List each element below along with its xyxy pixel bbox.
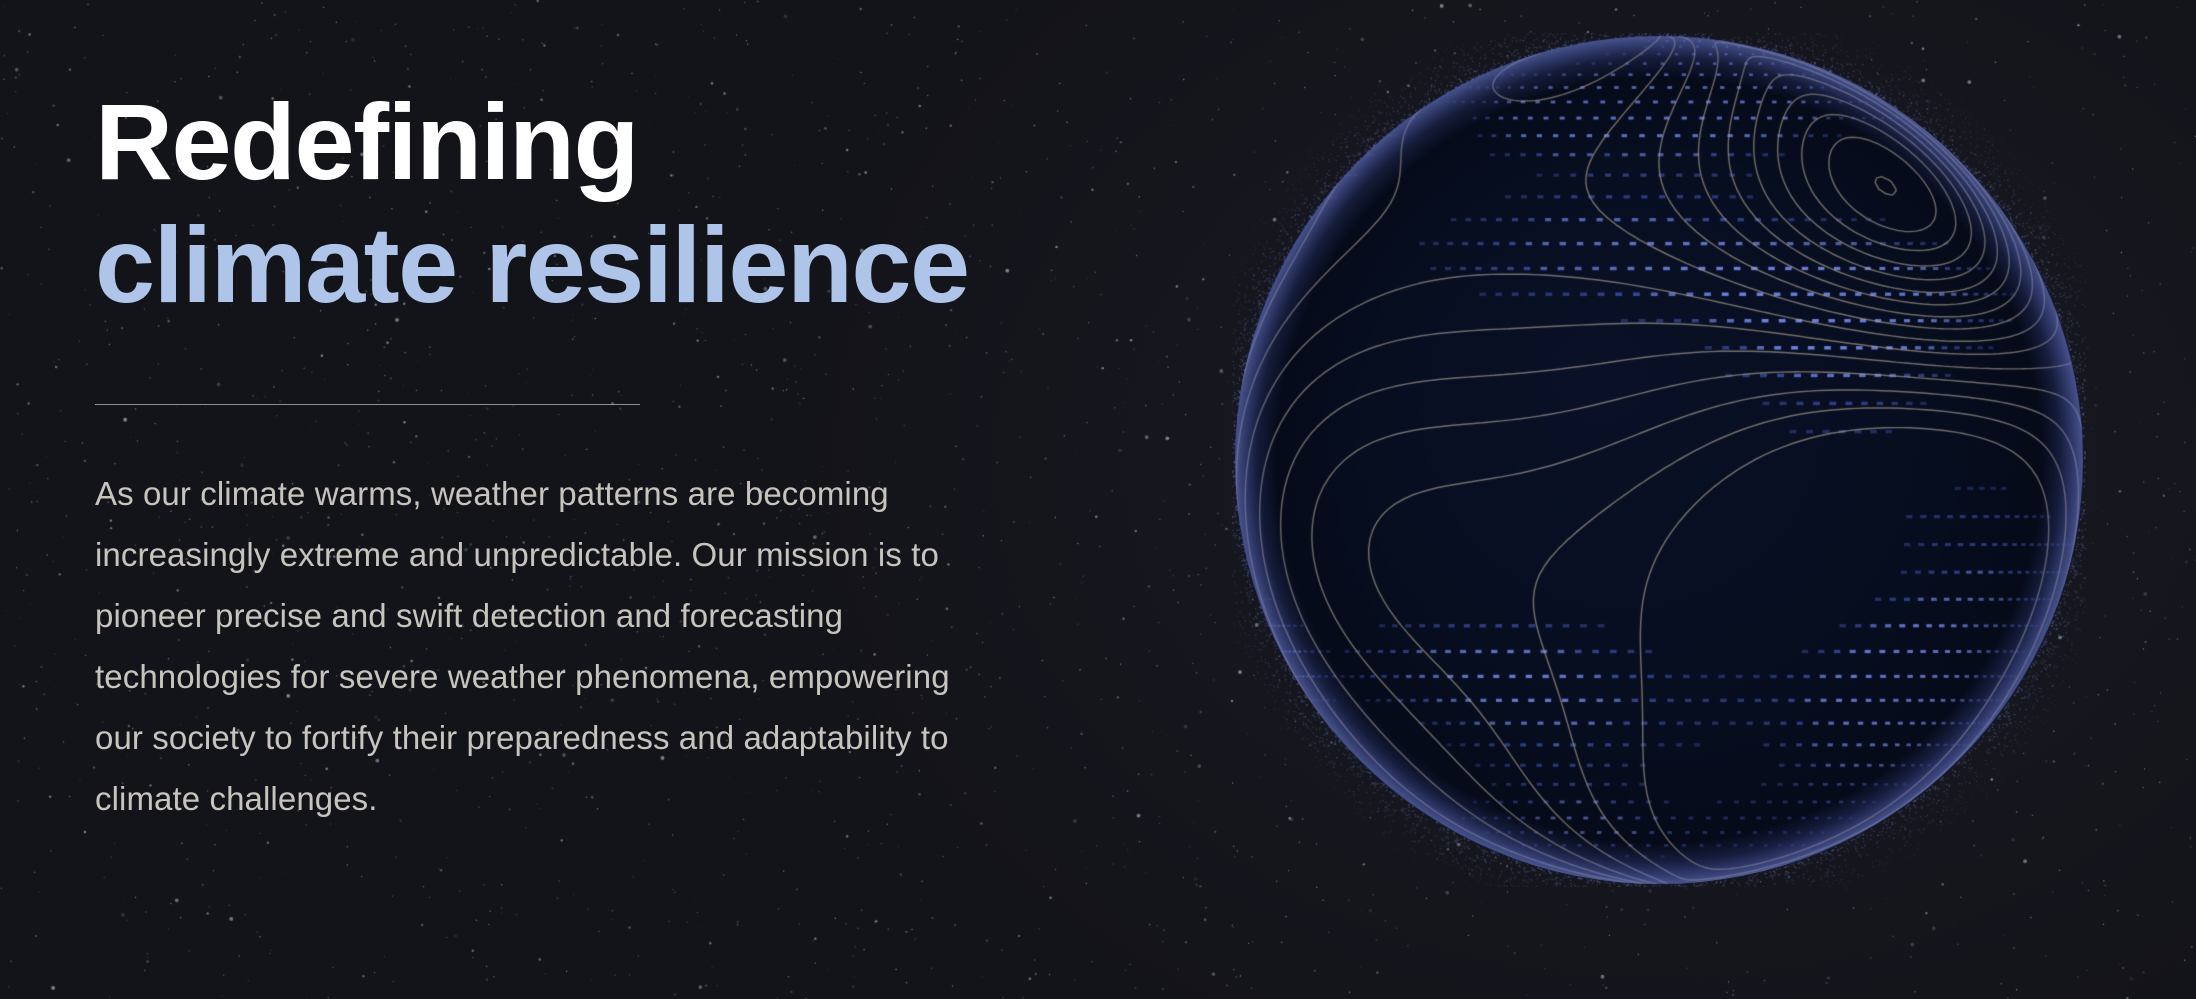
hero-copy-column: Redefining climate resilience As our cli… <box>95 80 1095 829</box>
headline-line-accent: climate resilience <box>95 203 1095 326</box>
page-title: Redefining climate resilience <box>95 80 1095 326</box>
hero-section: Redefining climate resilience As our cli… <box>0 0 2196 999</box>
globe-visualization <box>1232 33 2086 887</box>
horizontal-divider <box>95 404 640 405</box>
globe-canvas <box>1232 33 2086 887</box>
headline-line-primary: Redefining <box>95 80 1095 203</box>
hero-description-paragraph: As our climate warms, weather patterns a… <box>95 463 955 829</box>
